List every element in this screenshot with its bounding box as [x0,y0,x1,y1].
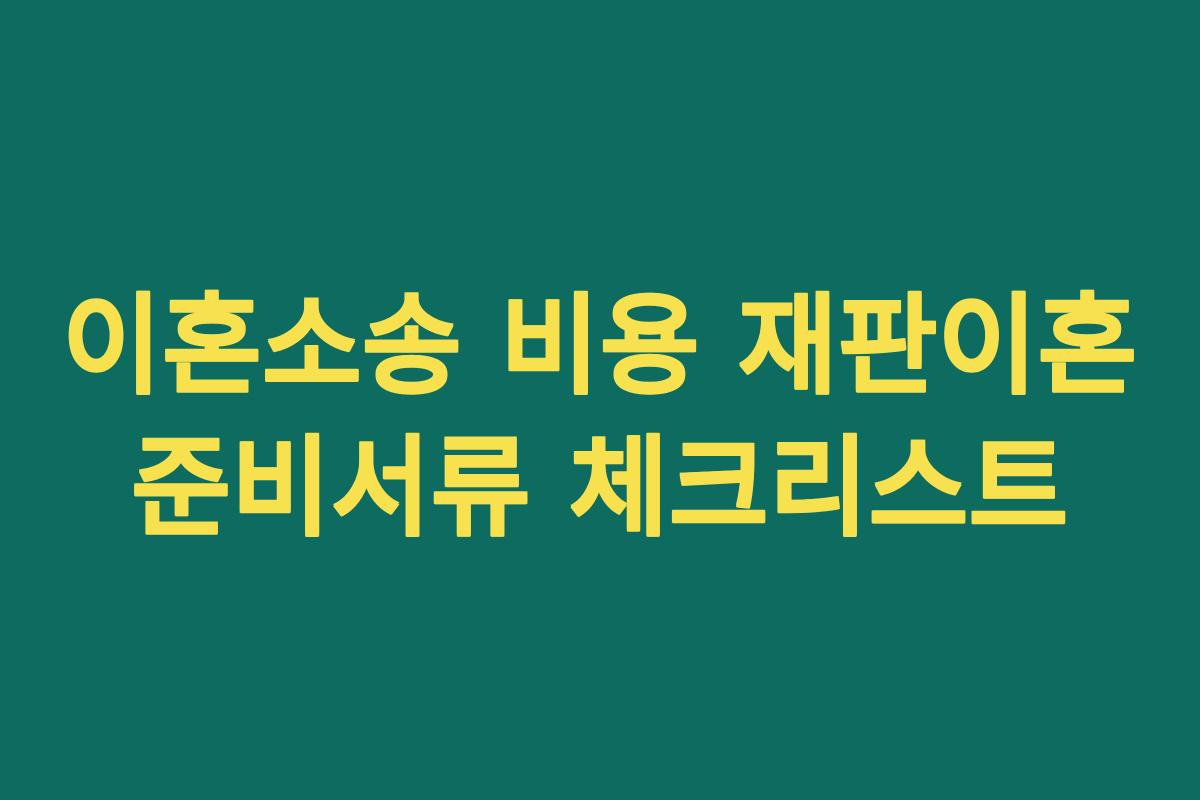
title-card: 이혼소송 비용 재판이혼 준비서류 체크리스트 [0,0,1200,800]
title-line-2: 준비서류 체크리스트 [40,419,1160,559]
page-title: 이혼소송 비용 재판이혼 준비서류 체크리스트 [40,277,1160,559]
title-line-1: 이혼소송 비용 재판이혼 [40,277,1160,417]
